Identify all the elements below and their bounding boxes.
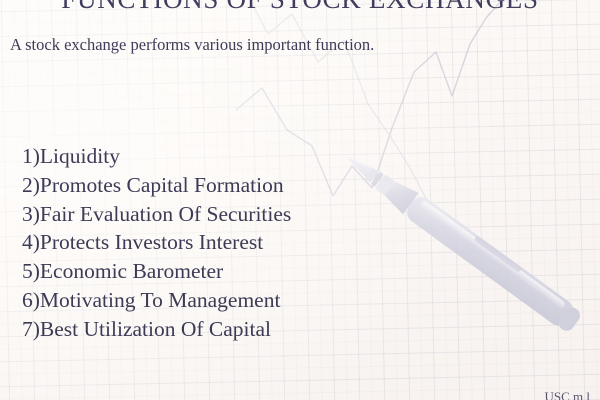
credit-text: USC m l — [544, 389, 590, 400]
list-item: 5)Economic Barometer — [22, 257, 291, 286]
slide-content: FUNCTIONS OF STOCK EXCHANGES A stock exc… — [0, 0, 600, 400]
list-item: 7)Best Utilization Of Capital — [22, 315, 291, 344]
list-item: 4)Protects Investors Interest — [22, 228, 291, 257]
list-item-number: 4) — [22, 230, 40, 254]
list-item: 2)Promotes Capital Formation — [22, 171, 291, 200]
list-item-number: 6) — [22, 288, 40, 312]
slide-canvas: FUNCTIONS OF STOCK EXCHANGES A stock exc… — [0, 0, 600, 400]
page-title: FUNCTIONS OF STOCK EXCHANGES — [0, 0, 600, 14]
slide-subtitle: A stock exchange performs various import… — [10, 34, 374, 56]
list-item-label: Protects Investors Interest — [40, 230, 263, 254]
list-item-number: 1) — [22, 144, 40, 168]
list-item-number: 2) — [22, 173, 40, 197]
list-item-label: Fair Evaluation Of Securities — [40, 202, 291, 226]
list-item: 1)Liquidity — [22, 142, 291, 171]
list-item-label: Motivating To Management — [40, 288, 281, 312]
list-item: 3)Fair Evaluation Of Securities — [22, 200, 291, 229]
list-item-number: 3) — [22, 202, 40, 226]
list-item-label: Best Utilization Of Capital — [40, 317, 271, 341]
list-item: 6)Motivating To Management — [22, 286, 291, 315]
list-item-label: Economic Barometer — [40, 259, 223, 283]
functions-list: 1)Liquidity 2)Promotes Capital Formation… — [22, 142, 291, 344]
list-item-number: 5) — [22, 259, 40, 283]
list-item-label: Liquidity — [40, 144, 120, 168]
list-item-number: 7) — [22, 317, 40, 341]
list-item-label: Promotes Capital Formation — [40, 173, 284, 197]
